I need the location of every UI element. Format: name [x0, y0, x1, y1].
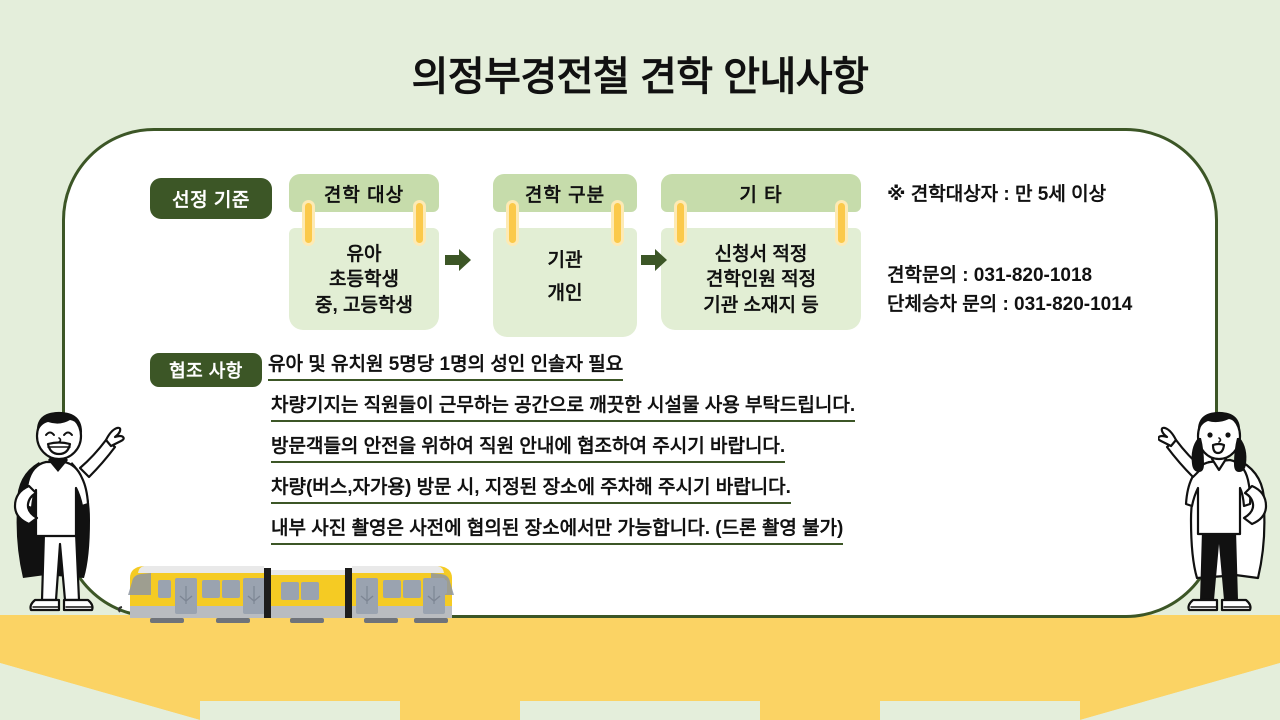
flow-card-line: 견학인원 적정: [667, 267, 855, 292]
page-title: 의정부경전철 견학 안내사항: [0, 44, 1280, 102]
list-item: 차량(버스,자가용) 방문 시, 지정된 장소에 주차해 주시기 바랍니다.: [268, 472, 855, 513]
cooperation-badge: 협조 사항: [150, 353, 262, 387]
flow-card-line: 기관: [499, 248, 631, 273]
flow-card-header: 기 타: [661, 174, 861, 212]
clip-icon-left: [674, 200, 687, 246]
girl-character-illustration: [1158, 404, 1280, 626]
list-item: 내부 사진 촬영은 사전에 협의된 장소에서만 가능합니다. (드론 촬영 불가…: [268, 513, 855, 554]
flow-card-other: 기 타 신청서 적정 견학인원 적정 기관 소재지 등: [661, 174, 861, 330]
flow-card-line: 유아: [295, 242, 433, 267]
flow-card-line: 기관 소재지 등: [667, 293, 855, 318]
cooperation-item-text: 차량기지는 직원들이 근무하는 공간으로 깨끗한 시설물 사용 부탁드립니다.: [271, 390, 855, 422]
selection-criteria-badge: 선정 기준: [150, 178, 272, 219]
content-frame: 선정 기준 견학 대상 유아 초등학생 중, 고등학생 견학 구분 기관 개인: [62, 128, 1218, 618]
clip-icon-left: [302, 200, 315, 246]
clip-icon-left: [506, 200, 519, 246]
contact-visit-inquiry: 견학문의 : 031-820-1018: [887, 262, 1217, 291]
light-rail-train-icon: [118, 556, 473, 626]
boy-character-illustration: [2, 404, 126, 626]
cooperation-list: 유아 및 유치원 5명당 1명의 성인 인솔자 필요 차량기지는 직원들이 근무…: [268, 349, 855, 554]
flow-card-visit-type: 견학 구분 기관 개인: [493, 174, 637, 337]
selection-flow: 선정 기준 견학 대상 유아 초등학생 중, 고등학생 견학 구분 기관 개인: [65, 131, 1221, 311]
cooperation-item-text: 차량(버스,자가용) 방문 시, 지정된 장소에 주차해 주시기 바랍니다.: [271, 472, 791, 504]
list-item: 유아 및 유치원 5명당 1명의 성인 인솔자 필요: [268, 349, 855, 390]
clip-icon-right: [413, 200, 426, 246]
list-item: 방문객들의 안전을 위하여 직원 안내에 협조하여 주시기 바랍니다.: [268, 431, 855, 472]
flow-card-body: 신청서 적정 견학인원 적정 기관 소재지 등: [661, 228, 861, 330]
eligibility-note: ※ 견학대상자 : 만 5세 이상: [887, 179, 1217, 206]
flow-card-line: 초등학생: [295, 267, 433, 292]
flow-card-line: 신청서 적정: [667, 242, 855, 267]
contact-group-boarding: 단체승차 문의 : 031-820-1014: [887, 291, 1217, 320]
clip-icon-right: [835, 200, 848, 246]
cooperation-item-text: 방문객들의 안전을 위하여 직원 안내에 협조하여 주시기 바랍니다.: [271, 431, 785, 463]
flow-card-line: 개인: [499, 281, 631, 306]
arrow-right-icon: [445, 249, 471, 271]
contact-list: 견학문의 : 031-820-1018 단체승차 문의 : 031-820-10…: [887, 262, 1217, 319]
arrow-right-icon: [641, 249, 667, 271]
contact-info-block: ※ 견학대상자 : 만 5세 이상 견학문의 : 031-820-1018 단체…: [887, 179, 1217, 319]
cooperation-item-text: 내부 사진 촬영은 사전에 협의된 장소에서만 가능합니다. (드론 촬영 불가…: [271, 513, 843, 545]
flow-card-visit-target: 견학 대상 유아 초등학생 중, 고등학생: [289, 174, 439, 330]
clip-icon-right: [611, 200, 624, 246]
cooperation-item-text: 유아 및 유치원 5명당 1명의 성인 인솔자 필요: [268, 349, 623, 381]
flow-card-line: 중, 고등학생: [295, 293, 433, 318]
bridge-graphic: [0, 615, 1280, 720]
list-item: 차량기지는 직원들이 근무하는 공간으로 깨끗한 시설물 사용 부탁드립니다.: [268, 390, 855, 431]
